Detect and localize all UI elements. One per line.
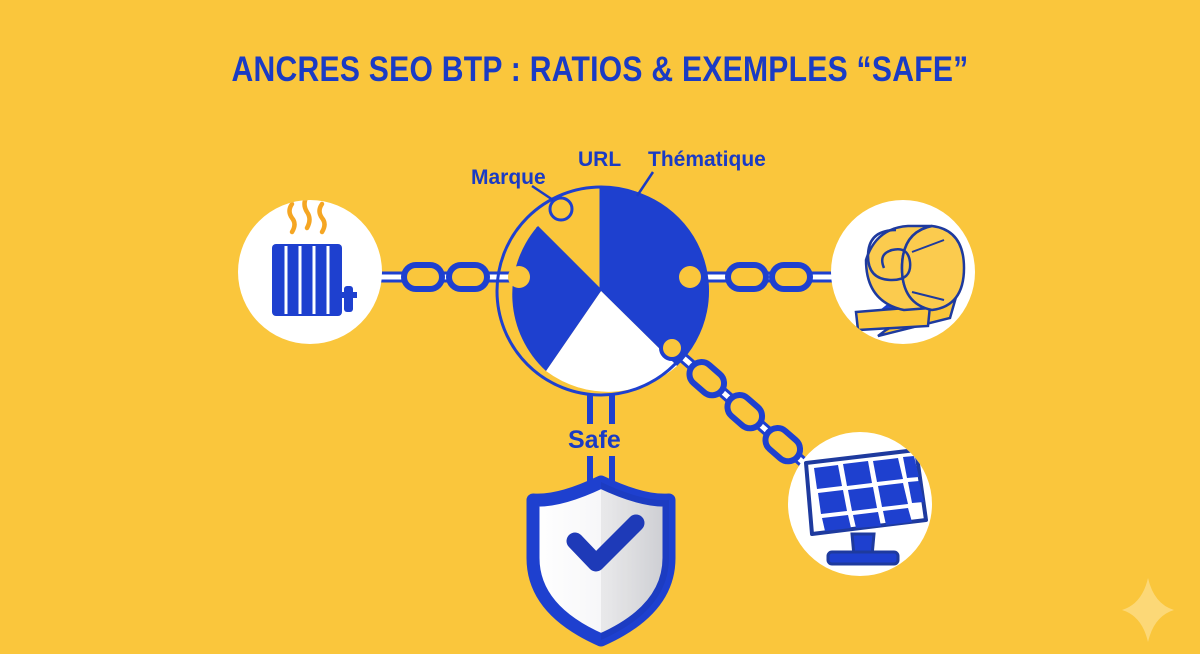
node-insulation-roll[interactable] [831,200,975,344]
pie-label-url: URL [578,148,621,172]
sparkle-icon [1122,578,1174,642]
pie-node-left [508,266,530,288]
node-solar-panel[interactable] [788,432,932,576]
pie-node-right [679,266,701,288]
pie-node-marque [550,198,572,220]
node-shield[interactable] [533,482,669,640]
pie-node-diagonal [661,337,683,359]
pie-label-safe: Safe [568,426,621,455]
node-radiator[interactable] [238,196,382,344]
infographic-canvas: ANCRES SEO BTP : RATIOS & EXEMPLES “SAFE… [0,0,1200,654]
chain-diagonal [672,348,812,470]
diagram-graphic [0,0,1200,654]
pie-chart [497,187,709,395]
pie-label-marque: Marque [471,166,546,190]
pie-label-thematique: Thématique [648,148,766,172]
